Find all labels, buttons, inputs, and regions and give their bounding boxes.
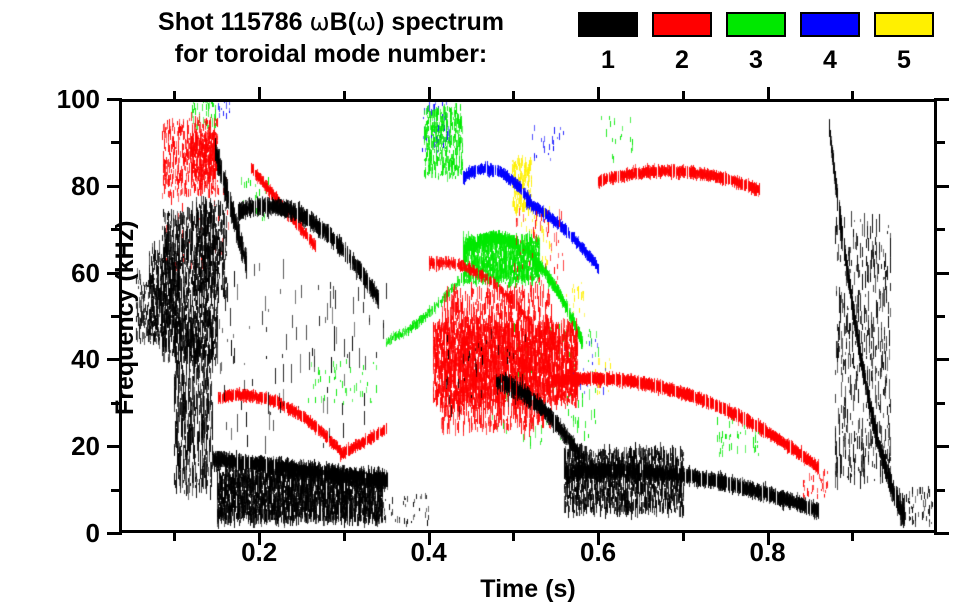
y-tick-right-major-0 <box>934 532 949 535</box>
x-tick-label-0.6: 0.6 <box>538 539 658 565</box>
x-tick-top-minor-0.9 <box>851 91 854 102</box>
y-tick-right-major-20 <box>934 445 949 448</box>
x-tick-minor-0.5 <box>512 530 515 541</box>
y-tick-right-major-100 <box>934 98 949 101</box>
x-tick-top-major-0.8 <box>767 87 770 102</box>
y-axis-label: Frequency (kHz) <box>111 221 140 415</box>
x-tick-label-0.2: 0.2 <box>199 539 319 565</box>
y-tick-right-minor-50 <box>934 315 945 318</box>
x-tick-label-0.8: 0.8 <box>708 539 828 565</box>
y-tick-label-20: 20 <box>0 433 118 459</box>
title-suffix: ) spectrum <box>376 8 504 36</box>
y-tick-right-major-40 <box>934 358 949 361</box>
y-tick-right-major-60 <box>934 272 949 275</box>
x-tick-label-0.4: 0.4 <box>369 539 489 565</box>
y-tick-right-minor-30 <box>934 402 945 405</box>
y-tick-right-major-80 <box>934 185 949 188</box>
y-tick-label-0: 0 <box>0 520 118 546</box>
omega-symbol-1: ω <box>310 8 330 36</box>
x-tick-top-minor-0.7 <box>682 91 685 102</box>
legend-entry-3: 3 <box>726 12 786 73</box>
omega-symbol-2: ω <box>356 8 376 36</box>
x-tick-minor-0.3 <box>343 530 346 541</box>
legend-entry-1: 1 <box>578 12 638 73</box>
figure-title-line1: Shot 115786 ωB(ω) spectrum <box>96 6 566 38</box>
legend-entry-2: 2 <box>652 12 712 73</box>
x-tick-top-major-0.4 <box>428 87 431 102</box>
y-tick-label-60: 60 <box>0 260 118 286</box>
legend-label-1: 1 <box>601 47 615 73</box>
title-prefix: Shot 115786 <box>158 8 309 36</box>
y-tick-minor-10 <box>111 489 122 492</box>
legend-label-4: 4 <box>823 47 837 73</box>
y-tick-right-minor-90 <box>934 141 945 144</box>
y-tick-label-40: 40 <box>0 346 118 372</box>
x-axis-label: Time (s) <box>119 575 937 604</box>
x-tick-top-minor-0.5 <box>512 91 515 102</box>
plot-area: 0204060801000.20.40.60.8 Frequency (kHz)… <box>119 99 937 533</box>
axis-frame-top <box>119 99 937 102</box>
figure-title: Shot 115786 ωB(ω) spectrum for toroidal … <box>96 6 566 70</box>
legend-swatch-3 <box>726 12 786 37</box>
title-b-open: B( <box>330 8 356 36</box>
x-tick-top-minor-0.3 <box>343 91 346 102</box>
spectrogram-canvas <box>119 99 937 533</box>
legend-label-5: 5 <box>897 47 911 73</box>
x-tick-top-major-0.2 <box>258 87 261 102</box>
spectrogram-figure: Shot 115786 ωB(ω) spectrum for toroidal … <box>0 0 963 615</box>
x-tick-minor-0.1 <box>173 530 176 541</box>
axis-frame-bottom <box>119 530 937 533</box>
x-tick-minor-0.7 <box>682 530 685 541</box>
y-tick-label-100: 100 <box>0 86 118 112</box>
y-tick-right-minor-10 <box>934 489 945 492</box>
y-tick-minor-90 <box>111 141 122 144</box>
x-tick-top-minor-0.1 <box>173 91 176 102</box>
y-tick-right-minor-70 <box>934 228 945 231</box>
y-tick-label-80: 80 <box>0 173 118 199</box>
mode-number-legend: 12345 <box>578 12 934 73</box>
x-tick-minor-0.9 <box>851 530 854 541</box>
legend-swatch-5 <box>874 12 934 37</box>
legend-label-2: 2 <box>675 47 689 73</box>
x-tick-top-major-0.6 <box>597 87 600 102</box>
figure-title-line2: for toroidal mode number: <box>96 38 566 70</box>
legend-swatch-4 <box>800 12 860 37</box>
legend-entry-5: 5 <box>874 12 934 73</box>
legend-entry-4: 4 <box>800 12 860 73</box>
legend-swatch-1 <box>578 12 638 37</box>
legend-swatch-2 <box>652 12 712 37</box>
legend-label-3: 3 <box>749 47 763 73</box>
